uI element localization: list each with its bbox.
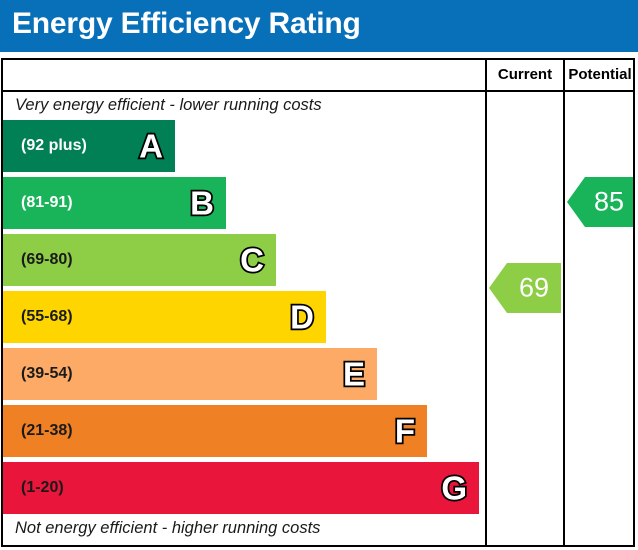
rating-table: Current Potential Very energy efficient … <box>1 58 635 547</box>
band-row-b: (81-91) B <box>3 177 226 229</box>
header-divider <box>3 90 633 92</box>
column-header-current: Current <box>487 60 563 90</box>
band-row-f: (21-38) F <box>3 405 427 457</box>
band-range-f: (21-38) <box>21 422 73 440</box>
band-range-g: (1-20) <box>21 479 64 497</box>
band-letter-b: B <box>190 187 214 220</box>
potential-rating-arrow: 85 <box>567 177 633 227</box>
band-letter-g: G <box>441 472 467 505</box>
band-row-a: (92 plus) A <box>3 120 175 172</box>
caption-bottom: Not energy efficient - higher running co… <box>15 519 320 538</box>
band-row-d: (55-68) D <box>3 291 326 343</box>
band-range-e: (39-54) <box>21 365 73 383</box>
band-list: (92 plus) A (81-91) B (69-80) C (55-68) … <box>3 120 483 514</box>
band-row-g: (1-20) G <box>3 462 479 514</box>
current-rating-value: 69 <box>507 275 561 302</box>
page-title: Energy Efficiency Rating <box>12 7 361 41</box>
band-row-c: (69-80) C <box>3 234 276 286</box>
band-row-e: (39-54) E <box>3 348 377 400</box>
title-bar: Energy Efficiency Rating <box>0 0 638 52</box>
band-range-d: (55-68) <box>21 308 73 326</box>
band-range-c: (69-80) <box>21 251 73 269</box>
column-header-potential: Potential <box>565 60 635 90</box>
caption-top: Very energy efficient - lower running co… <box>15 96 322 115</box>
current-rating-arrow: 69 <box>489 263 561 313</box>
band-letter-c: C <box>240 244 264 277</box>
energy-efficiency-rating-chart: Energy Efficiency Rating Current Potenti… <box>0 0 638 550</box>
band-letter-d: D <box>290 301 314 334</box>
band-letter-e: E <box>343 358 365 391</box>
band-range-a: (92 plus) <box>21 137 87 155</box>
band-letter-a: A <box>139 130 163 163</box>
current-column-divider <box>485 60 487 545</box>
potential-rating-value: 85 <box>585 189 633 216</box>
potential-column-divider <box>563 60 565 545</box>
band-letter-f: F <box>395 415 415 448</box>
band-range-b: (81-91) <box>21 194 73 212</box>
